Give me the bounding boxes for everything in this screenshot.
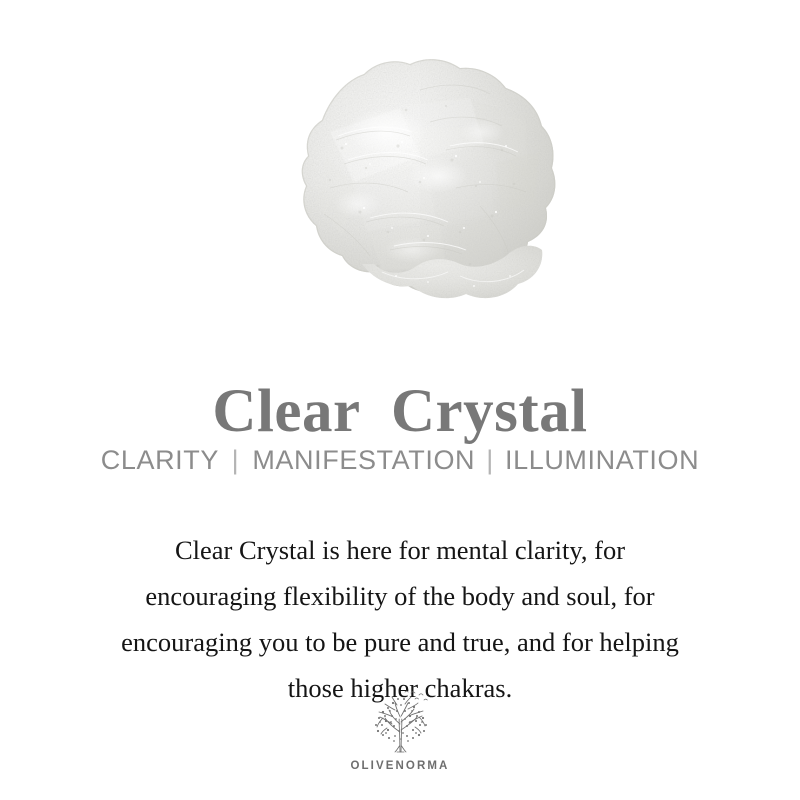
product-image (270, 36, 580, 316)
page-title: Clear Crystal (0, 378, 800, 446)
keyword-illumination: ILLUMINATION (505, 445, 699, 475)
keyword-manifestation: MANIFESTATION (252, 445, 475, 475)
brand-logo: OLIVENORMA (0, 688, 800, 772)
keyword-strip: CLARITY | MANIFESTATION | ILLUMINATION (0, 443, 800, 477)
product-description: Clear Crystal is here for mental clarity… (45, 527, 755, 711)
description-line: encouraging you to be pure and true, and… (45, 619, 755, 665)
olive-tree-icon (361, 688, 439, 756)
keyword-separator: | (483, 445, 497, 475)
description-line: encouraging flexibility of the body and … (45, 573, 755, 619)
product-card: Clear Crystal CLARITY | MANIFESTATION | … (0, 0, 800, 800)
clear-crystal-illustration (270, 36, 580, 316)
brand-wordmark: OLIVENORMA (0, 760, 800, 772)
description-line: Clear Crystal is here for mental clarity… (45, 527, 755, 573)
keyword-separator: | (227, 445, 245, 475)
keyword-clarity: CLARITY (101, 445, 219, 475)
